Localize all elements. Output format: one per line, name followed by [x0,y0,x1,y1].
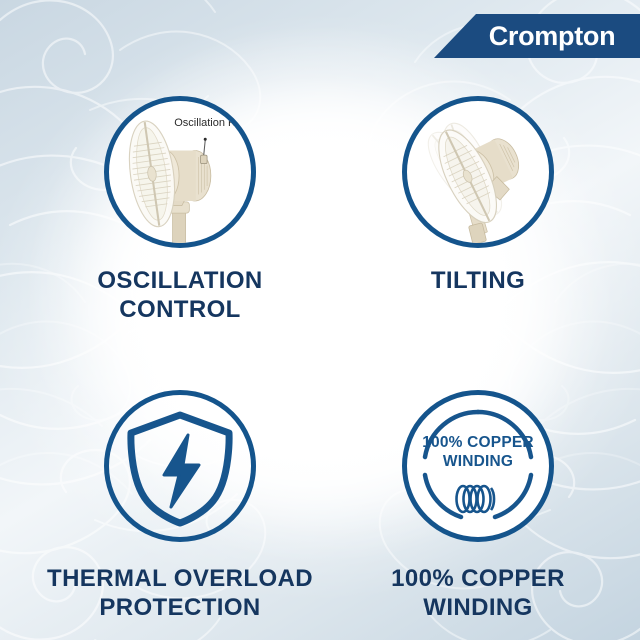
tilting-fan-circle [402,96,554,248]
oscillation-knob-label: Oscillation Knob [171,117,256,130]
feature-caption-thermal-overload-protection: THERMAL OVERLOAD PROTECTION [47,564,313,623]
feature-copper-winding[interactable]: 100% COPPER WINDING 100% COPPER WINDING [318,390,638,623]
feature-caption-tilting: TILTING [431,266,525,295]
oscillation-knob-pointer [201,138,208,164]
shield-bolt-icon [109,395,251,537]
feature-caption-oscillation-control: OSCILLATION CONTROL [97,266,262,325]
copper-winding-badge-text: 100% COPPER WINDING [407,433,549,472]
feature-oscillation-control[interactable]: Oscillation Knob OSCILLATION CONTROL [20,96,340,325]
fan-tilting-photo [407,101,549,243]
product-feature-infographic: Crompton [0,0,640,640]
thermal-protection-circle [104,390,256,542]
feature-tilting[interactable]: TILTING [318,96,638,295]
oscillation-fan-circle: Oscillation Knob [104,96,256,248]
feature-caption-copper-winding: 100% COPPER WINDING [391,564,565,623]
feature-thermal-overload-protection[interactable]: THERMAL OVERLOAD PROTECTION [20,390,340,623]
copper-winding-circle: 100% COPPER WINDING [402,390,554,542]
feature-grid: Oscillation Knob OSCILLATION CONTROL [0,0,640,640]
